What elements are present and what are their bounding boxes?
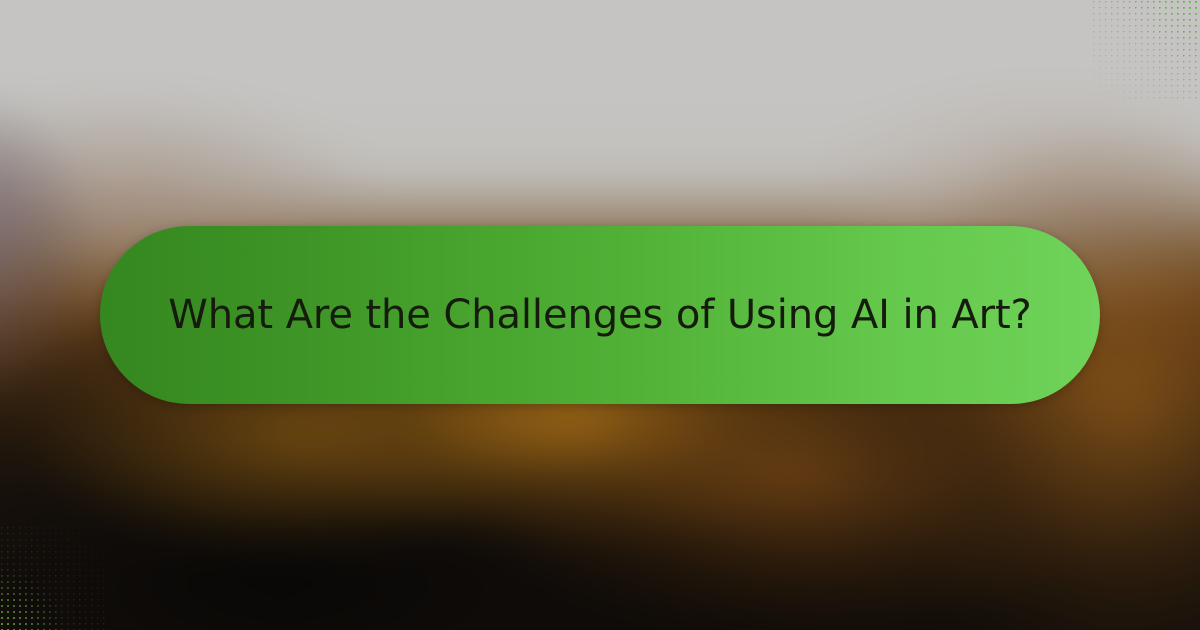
page-title: What Are the Challenges of Using AI in A… (168, 292, 1031, 338)
title-pill-banner: What Are the Challenges of Using AI in A… (100, 226, 1100, 404)
dot-grid-accent-top-right (1092, 0, 1200, 102)
share-card-canvas: What Are the Challenges of Using AI in A… (0, 0, 1200, 630)
dot-grid-accent-bottom-left (0, 526, 108, 630)
